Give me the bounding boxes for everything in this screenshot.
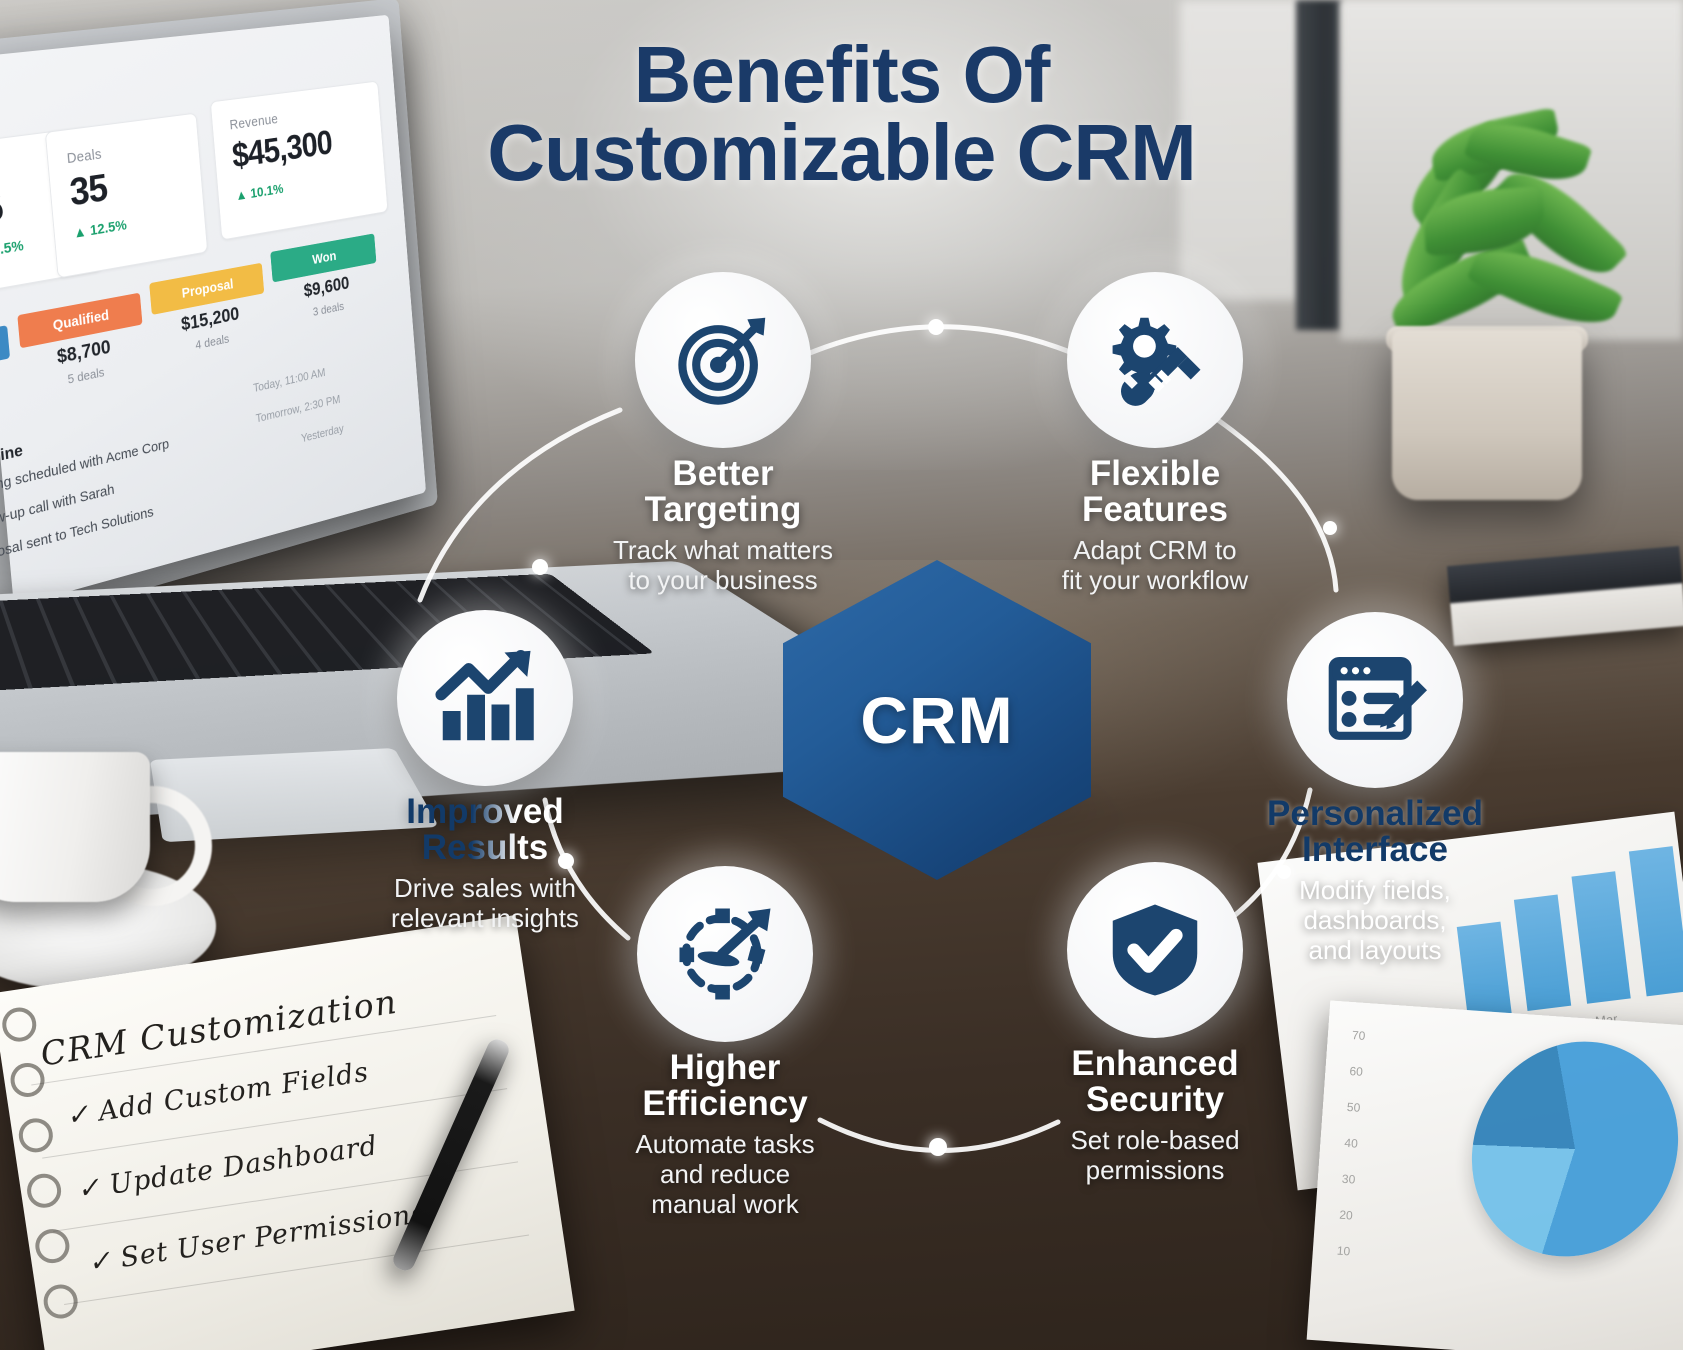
- title-line-1: Benefits Of: [634, 30, 1050, 119]
- node-title: Flexible Features: [1025, 456, 1285, 529]
- node-flexible-features[interactable]: Flexible Features Adapt CRM to fit your …: [1025, 272, 1285, 595]
- node-desc: Adapt CRM to fit your workflow: [1025, 535, 1285, 595]
- notepad-item-0: ✓ Add Custom Fields: [64, 1057, 371, 1133]
- node-desc-line-2: to your business: [628, 565, 817, 595]
- node-desc-line-2: and reduce: [660, 1159, 790, 1189]
- y-tick-1: 60: [1349, 1064, 1363, 1079]
- notepad-item-2: ✓ Set User Permissions: [86, 1198, 428, 1279]
- node-improved-results[interactable]: Improved Results Drive sales with releva…: [355, 610, 615, 933]
- shield-check-icon-bubble: [1067, 862, 1243, 1038]
- hub-label: CRM: [783, 560, 1091, 880]
- timeline-time-2: Yesterday: [301, 421, 345, 445]
- node-desc-line-1: Automate tasks: [635, 1129, 814, 1159]
- node-desc-line-2: dashboards,: [1303, 905, 1446, 935]
- infographic-canvas: Deals 35 ▲ 12.5% Deals 35 ▲ 12.5% Revenu…: [0, 0, 1683, 1350]
- node-title: Better Targeting: [593, 456, 853, 529]
- target-icon: [671, 308, 775, 412]
- target-icon-bubble: [635, 272, 811, 448]
- y-tick-5: 20: [1339, 1208, 1353, 1223]
- node-title: Improved Results: [355, 794, 615, 867]
- title-line-2: Customizable CRM: [0, 114, 1683, 192]
- node-desc: Set role-based permissions: [1025, 1125, 1285, 1185]
- bar-chart-arrow-icon-bubble: [397, 610, 573, 786]
- node-desc-line-1: Drive sales with: [394, 873, 576, 903]
- y-tick-6: 10: [1336, 1244, 1350, 1259]
- window-pen-icon-bubble: [1287, 612, 1463, 788]
- node-desc-line-3: and layouts: [1309, 935, 1442, 965]
- node-desc-line-1: Set role-based: [1070, 1125, 1239, 1155]
- timeline-time-0: Today, 11:00 AM: [253, 365, 326, 395]
- crm-hub: CRM: [783, 560, 1091, 880]
- shield-check-icon: [1103, 898, 1207, 1002]
- y-tick-2: 50: [1346, 1100, 1360, 1115]
- node-better-targeting[interactable]: Better Targeting Track what matters to y…: [593, 272, 853, 595]
- y-tick-3: 40: [1344, 1136, 1358, 1151]
- page-title: Benefits Of Customizable CRM: [0, 36, 1683, 193]
- bar-chart-arrow-icon: [433, 646, 537, 750]
- speedometer-icon-bubble: [637, 866, 813, 1042]
- node-desc-line-3: manual work: [651, 1189, 798, 1219]
- node-desc: Automate tasks and reduce manual work: [595, 1129, 855, 1219]
- node-desc: Drive sales with relevant insights: [355, 873, 615, 933]
- gear-wrench-icon: [1103, 308, 1207, 412]
- node-title: Personalized Interface: [1245, 796, 1505, 869]
- notepad: CRM Customization ✓ Add Custom Fields ✓ …: [0, 915, 575, 1350]
- node-desc: Track what matters to your business: [593, 535, 853, 595]
- node-title: Enhanced Security: [1025, 1046, 1285, 1119]
- node-enhanced-security[interactable]: Enhanced Security Set role-based permiss…: [1025, 862, 1285, 1185]
- node-higher-efficiency[interactable]: Higher Efficiency Automate tasks and red…: [595, 866, 855, 1219]
- node-desc-line-2: permissions: [1086, 1155, 1225, 1185]
- pipeline-head-new: [0, 325, 10, 373]
- node-desc-line-1: Adapt CRM to: [1073, 535, 1236, 565]
- node-title: Higher Efficiency: [595, 1050, 855, 1123]
- y-tick-4: 30: [1341, 1172, 1355, 1187]
- node-desc-line-1: Modify fields,: [1299, 875, 1451, 905]
- node-desc-line-2: fit your workflow: [1062, 565, 1248, 595]
- notepad-item-1: ✓ Update Dashboard: [75, 1130, 380, 1205]
- window-pen-icon: [1323, 648, 1427, 752]
- node-desc-line-1: Track what matters: [613, 535, 833, 565]
- timeline-time-1: Tomorrow, 2:30 PM: [255, 392, 341, 425]
- speedometer-icon: [673, 902, 777, 1006]
- node-desc-line-2: relevant insights: [391, 903, 579, 933]
- gear-wrench-icon-bubble: [1067, 272, 1243, 448]
- y-tick-0: 70: [1351, 1028, 1365, 1043]
